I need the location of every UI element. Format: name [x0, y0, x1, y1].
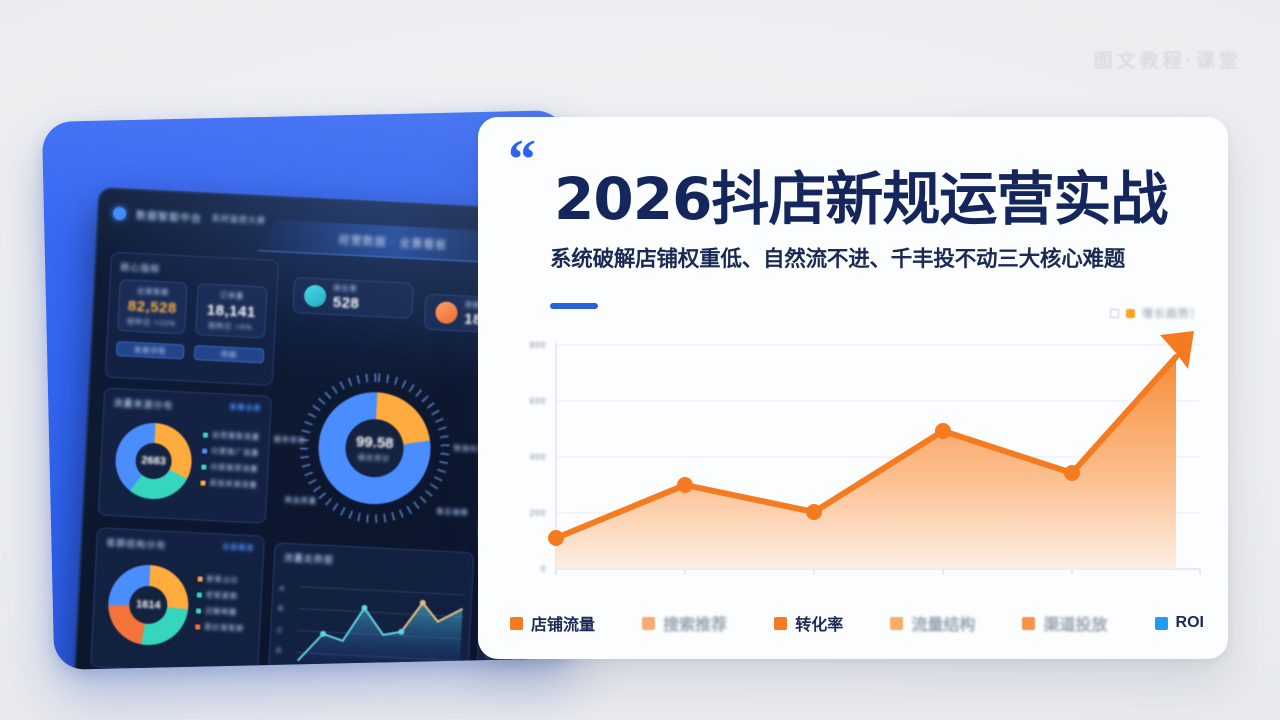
legend-swatch-icon	[1155, 617, 1168, 630]
legend-label: 老客复购	[206, 590, 238, 602]
kpi-sub-0: 较昨日 +12%	[127, 316, 176, 328]
kpi-icon-3	[435, 301, 458, 324]
quote-icon: “	[508, 141, 533, 180]
legend-swatch-icon	[890, 617, 903, 630]
legend-label-4: 渠道投放	[1043, 611, 1107, 635]
gauge-value: 99.58	[356, 433, 394, 452]
kpi-card-0: 总销售额 82,528 较昨日 +12%	[117, 279, 188, 334]
grid-icon	[1110, 309, 1119, 318]
legend-swatch-icon	[1022, 617, 1035, 630]
gauge-tick-label-0: 服务体验	[274, 434, 306, 446]
kpi-card-1: 订单量 18,141 较昨日 +8%	[195, 283, 268, 338]
square-icon	[1126, 309, 1135, 318]
gauge-tick-label-2: 商品质量	[285, 495, 317, 507]
legend-label-0: 店铺流量	[531, 611, 595, 635]
growth-chart: 800 600 400 200 0	[500, 329, 1206, 599]
kpi-pill-2: 转化率 528	[292, 277, 414, 319]
panel-customer-title: 客群结构分布	[106, 536, 167, 552]
legend-label-2: 转化率	[795, 611, 843, 635]
mini-area-chart	[295, 575, 466, 670]
legend-swatch-icon	[642, 617, 655, 630]
panel-customer-structure: 客群结构分布 全部渠道 1614 新客占比 老客复购 沉睡唤醒 高价值客群	[90, 527, 265, 670]
legend-label: 沉睡唤醒	[205, 606, 237, 618]
kpi-sub-1: 较昨日 +8%	[208, 320, 253, 332]
dashboard-banner-label: 经营数据 · 全景看板	[338, 231, 447, 252]
kpi-icon-2	[304, 284, 327, 307]
content-card: “ 2026抖店新规运营实战 系统破解店铺权重低、自然流不进、千丰投不动三大核心…	[478, 117, 1228, 659]
chart-mini-legend-label: 增长趋势）	[1142, 305, 1202, 321]
kpi-button-label-1: 明细	[221, 349, 237, 360]
gauge-tick-label-3: 售后保障	[436, 506, 468, 518]
gauge-label: 综合评分	[358, 452, 390, 464]
panel-traffic-source-link[interactable]: 查看全部	[229, 402, 261, 414]
legend-label-1: 搜索推荐	[663, 611, 727, 635]
legend-item-4[interactable]: 渠道投放	[1022, 611, 1107, 635]
kpi-value-1: 18,141	[206, 301, 256, 320]
legend-swatch-icon	[774, 617, 787, 630]
legend-label: 新客占比	[206, 574, 238, 586]
kpi-label-1: 订单量	[220, 290, 244, 301]
page-title: 2026抖店新规运营实战	[554, 152, 1167, 236]
legend-item-5[interactable]: ROI	[1155, 614, 1204, 632]
legend-label: 高价值客群	[204, 622, 244, 634]
donut-chart-traffic: 2683	[114, 421, 194, 501]
chart-plot	[500, 329, 1206, 599]
chart-mini-legend: 增长趋势）	[1110, 305, 1202, 321]
legend-label: 付费推广流量	[211, 446, 259, 458]
dashboard-subtitle: 实时监控大屏	[212, 212, 266, 226]
panel-trend-title: 流量走势图	[284, 551, 335, 567]
kpi-label-0: 总销售额	[137, 286, 169, 298]
legend-item-0[interactable]: 店铺流量	[510, 611, 595, 635]
legend-swatch-icon	[510, 617, 523, 630]
kpi-section-title: 核心指标	[120, 260, 161, 275]
kpi-panel-left: 核心指标 总销售额 82,528 较昨日 +12% 订单量 18,141 较昨日…	[105, 252, 279, 386]
legend-label: 其他来源流量	[209, 478, 257, 490]
legend-item-2[interactable]: 转化率	[774, 611, 843, 635]
panel-traffic-source: 流量来源分布 查看全部 2683 自然搜索流量 付费推广流量 内容推荐流量 其他…	[98, 387, 272, 523]
donut-chart-customer: 1614	[106, 563, 190, 647]
page-subtitle: 系统破解店铺权重低、自然流不进、千丰投不动三大核心难题	[550, 242, 1125, 273]
legend-item-3[interactable]: 流量结构	[890, 611, 975, 635]
legend-label-3: 流量结构	[911, 611, 975, 635]
panel-customer-link[interactable]: 全部渠道	[222, 542, 254, 554]
legend-item-1[interactable]: 搜索推荐	[642, 611, 727, 635]
kpi-label-2: 转化率	[333, 283, 360, 294]
dashboard-title: 数据智能中台	[136, 206, 203, 224]
legend-label: 自然搜索流量	[212, 430, 260, 442]
kpi-value-0: 82,528	[128, 297, 178, 316]
accent-bar	[550, 303, 598, 309]
donut-value-customer: 1614	[136, 598, 161, 611]
legend-label: 内容推荐流量	[210, 462, 258, 474]
watermark: 图文教程·课堂	[1094, 46, 1242, 73]
panel-traffic-source-title: 流量来源分布	[113, 396, 174, 412]
kpi-value-2: 528	[332, 294, 359, 312]
kpi-button-label-0: 查看详情	[134, 344, 166, 356]
legend-label-5: ROI	[1176, 614, 1204, 632]
circle-logo-icon	[113, 206, 127, 220]
panel-traffic-trend: 流量走势图 A B C	[268, 542, 475, 670]
donut-value-traffic: 2683	[141, 454, 166, 467]
kpi-button-1[interactable]: 明细	[194, 345, 265, 364]
donut-legend-customer: 新客占比 老客复购 沉睡唤醒 高价值客群	[195, 573, 247, 633]
kpi-button-0[interactable]: 查看详情	[116, 341, 185, 359]
donut-legend-traffic: 自然搜索流量 付费推广流量 内容推荐流量 其他来源流量	[200, 430, 260, 491]
chart-legend: 店铺流量 搜索推荐 转化率 流量结构 渠道投放 ROI	[510, 611, 1204, 635]
